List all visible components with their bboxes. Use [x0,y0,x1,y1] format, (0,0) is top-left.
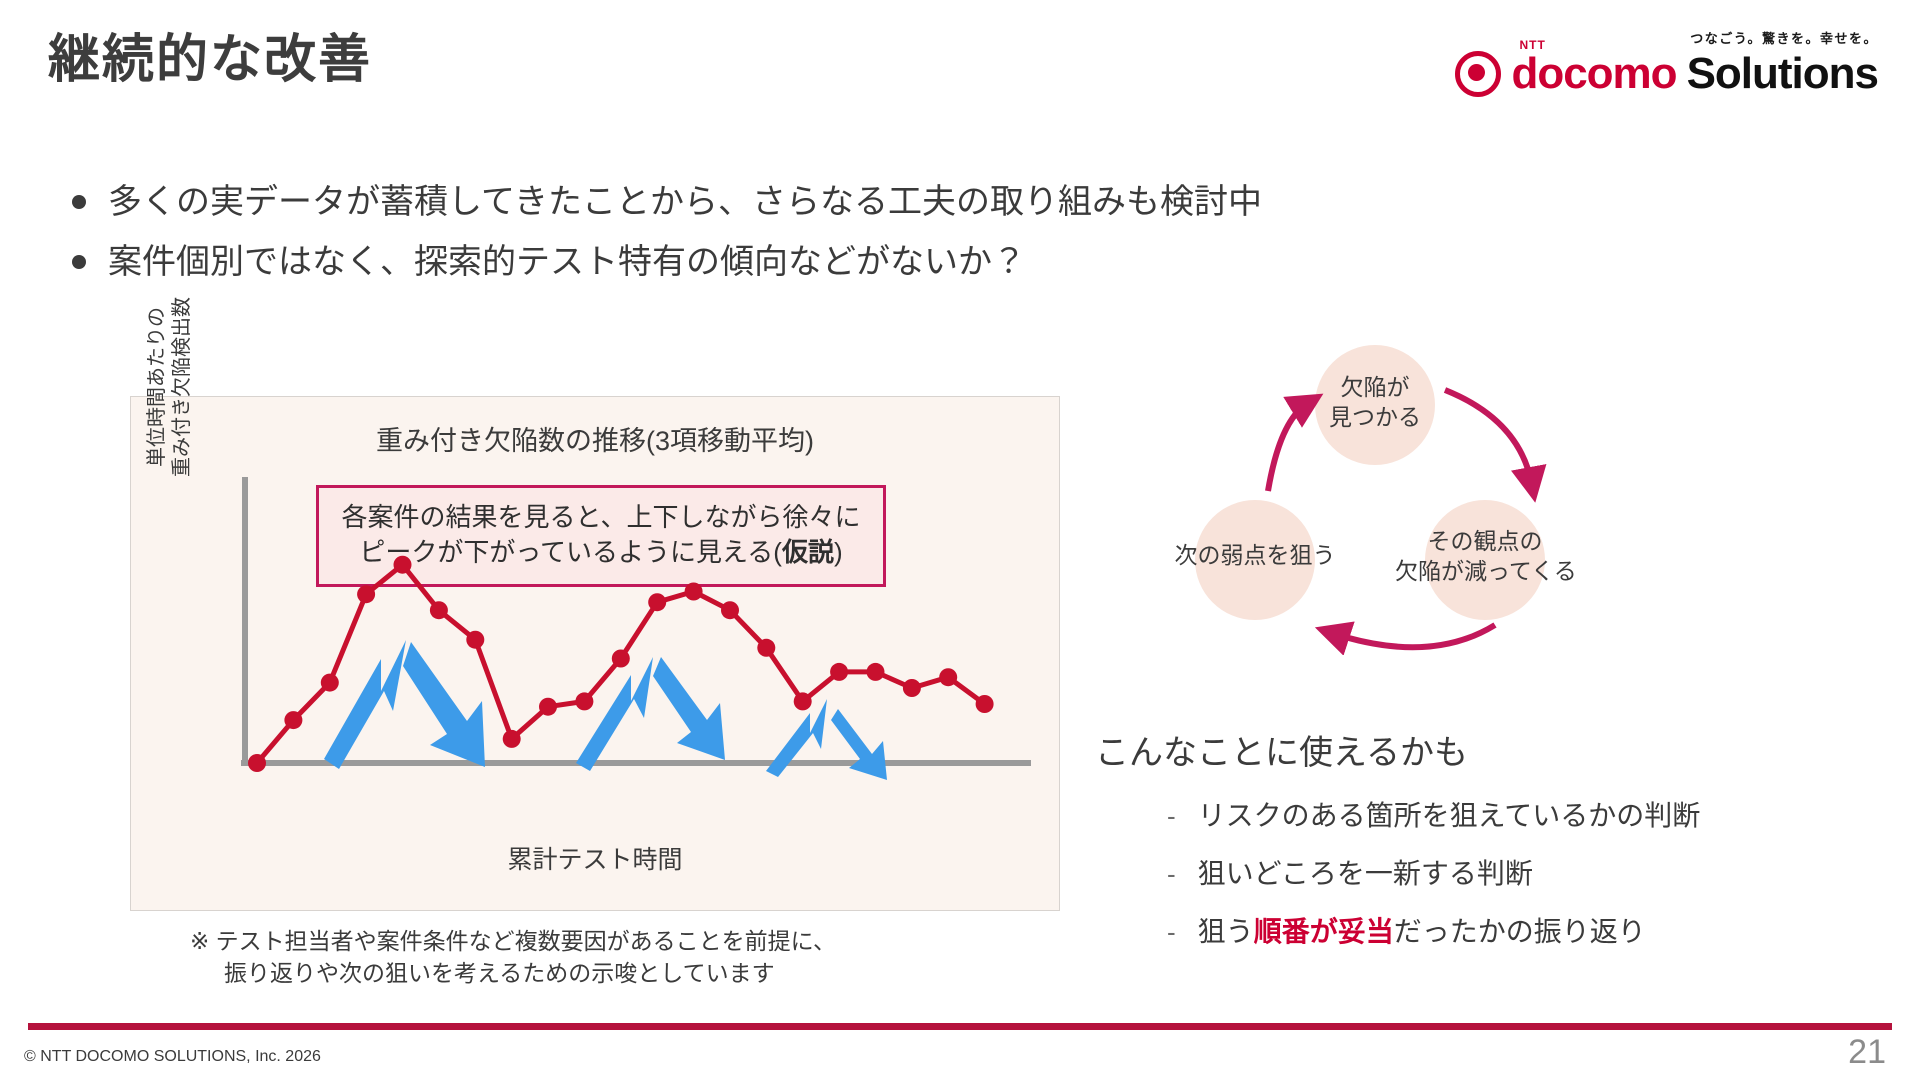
cycle-diagram: 欠陥が 見つかる その観点の 欠陥が減ってくる 次の弱点を狙う [1140,345,1660,655]
footer-copyright: © NTT DOCOMO SOLUTIONS, Inc. 2026 [24,1048,321,1066]
brand-logo: つなごう。驚きを。幸せを。 NTT docomo Solutions [1455,28,1878,97]
bullet-dot-icon [72,255,86,269]
list-item: - 狙いどころを一新する判断 [1095,852,1835,892]
docomo-circle-icon [1455,51,1501,97]
y-axis-label-line2: 重み付き欠陥検出数 [170,267,195,507]
chart-plot-area [241,477,1051,837]
line-chart-svg [241,477,1051,837]
cycle-label-target-next-weakness: 次の弱点を狙う [1125,541,1385,571]
list-item: - リスクのある箇所を狙えているかの判断 [1095,794,1835,834]
use-text: 狙いどころを一新する判断 [1198,852,1533,892]
cycle-label-top-line1: 欠陥が [1300,373,1450,403]
trend-arrow-down-3 [831,709,887,780]
data-point [357,585,375,603]
data-point [321,674,339,692]
chart-footnote-line2: 振り返りや次の狙いを考えるための示唆としています [190,957,910,989]
uses-heading: こんなことに使えるかも [1095,725,1835,774]
cycle-label-left-line1: 次の弱点を狙う [1125,541,1385,571]
cycle-label-defects-decrease: その観点の 欠陥が減ってくる [1395,527,1575,587]
dash-icon: - [1167,919,1176,945]
cycle-arrow-right-left [1332,625,1495,647]
trend-arrow-down-1 [403,642,485,767]
series-markers [248,556,994,772]
data-point [466,631,484,649]
data-point [648,593,666,611]
page-title: 継続的な改善 [48,32,372,89]
bullet-list: 多くの実データが蓄積してきたことから、さらなる工夫の取り組みも検討中 案件個別で… [72,180,1372,300]
chart-footnote: ※ テスト担当者や案件条件など複数要因があることを前提に、 振り返りや次の狙いを… [190,925,910,989]
data-point [248,754,266,772]
logo-docomo-text: docomo [1511,52,1676,96]
use-text-pre: 狙う [1198,916,1254,947]
logo-docomo-wrap: NTT docomo [1511,52,1676,96]
cycle-label-right-line2: 欠陥が減ってくる [1395,557,1575,587]
data-point [430,601,448,619]
list-item: - 狙う順番が妥当だったかの振り返り [1095,910,1835,950]
use-text-pre: 狙いどころを一新する判断 [1198,858,1533,889]
dash-icon: - [1167,803,1176,829]
trend-arrow-down-2 [653,657,725,760]
cycle-label-top-line2: 見つかる [1300,403,1450,433]
cycle-label-defect-found: 欠陥が 見つかる [1300,373,1450,433]
data-point [575,692,593,710]
data-point [284,711,302,729]
list-item: 案件個別ではなく、探索的テスト特有の傾向などがないか？ [72,240,1372,284]
bullet-text: 案件個別ではなく、探索的テスト特有の傾向などがないか？ [108,240,1026,284]
chart-panel: 重み付き欠陥数の推移(3項移動平均) 各案件の結果を見ると、上下しながら徐々に … [130,396,1060,911]
data-point [976,695,994,713]
cycle-arrow-top-right [1445,390,1532,485]
page-number: 21 [1848,1033,1886,1072]
logo-solutions-text: Solutions [1687,52,1878,96]
use-text-pre: リスクのある箇所を狙えているかの判断 [1198,800,1701,831]
use-text: リスクのある箇所を狙えているかの判断 [1198,794,1701,834]
x-axis-label: 累計テスト時間 [131,840,1059,876]
data-point [612,650,630,668]
bullet-dot-icon [72,195,86,209]
data-point [939,668,957,686]
data-point [794,692,812,710]
bullet-text: 多くの実データが蓄積してきたことから、さらなる工夫の取り組みも検討中 [108,180,1262,224]
use-text-post: だったかの振り返り [1394,916,1646,947]
data-point [685,583,703,601]
cycle-label-right-line1: その観点の [1395,527,1575,557]
slide: 継続的な改善 つなごう。驚きを。幸せを。 NTT docomo Solution… [0,0,1920,1080]
data-point [503,730,521,748]
uses-section: こんなことに使えるかも - リスクのある箇所を狙えているかの判断 - 狙いどころ… [1095,725,1835,968]
y-axis-label-line1: 単位時間あたりの [145,267,170,507]
footer-divider [28,1023,1892,1030]
y-axis-label: 単位時間あたりの 重み付き欠陥検出数 [145,267,195,507]
logo-row: NTT docomo Solutions [1455,51,1878,97]
use-text: 狙う順番が妥当だったかの振り返り [1198,910,1646,950]
trend-arrow-up-1 [324,640,406,769]
data-point [394,556,412,574]
trend-arrow-up-2 [576,657,653,771]
data-point [539,698,557,716]
chart-footnote-line1: ※ テスト担当者や案件条件など複数要因があることを前提に、 [190,928,836,954]
dash-icon: - [1167,861,1176,887]
logo-ntt-text: NTT [1519,38,1545,52]
use-text-bold: 順番が妥当 [1254,916,1394,947]
data-point [830,663,848,681]
data-point [757,639,775,657]
data-point [721,601,739,619]
list-item: 多くの実データが蓄積してきたことから、さらなる工夫の取り組みも検討中 [72,180,1372,224]
chart-title: 重み付き欠陥数の推移(3項移動平均) [131,419,1059,458]
data-point [867,663,885,681]
data-point [903,679,921,697]
